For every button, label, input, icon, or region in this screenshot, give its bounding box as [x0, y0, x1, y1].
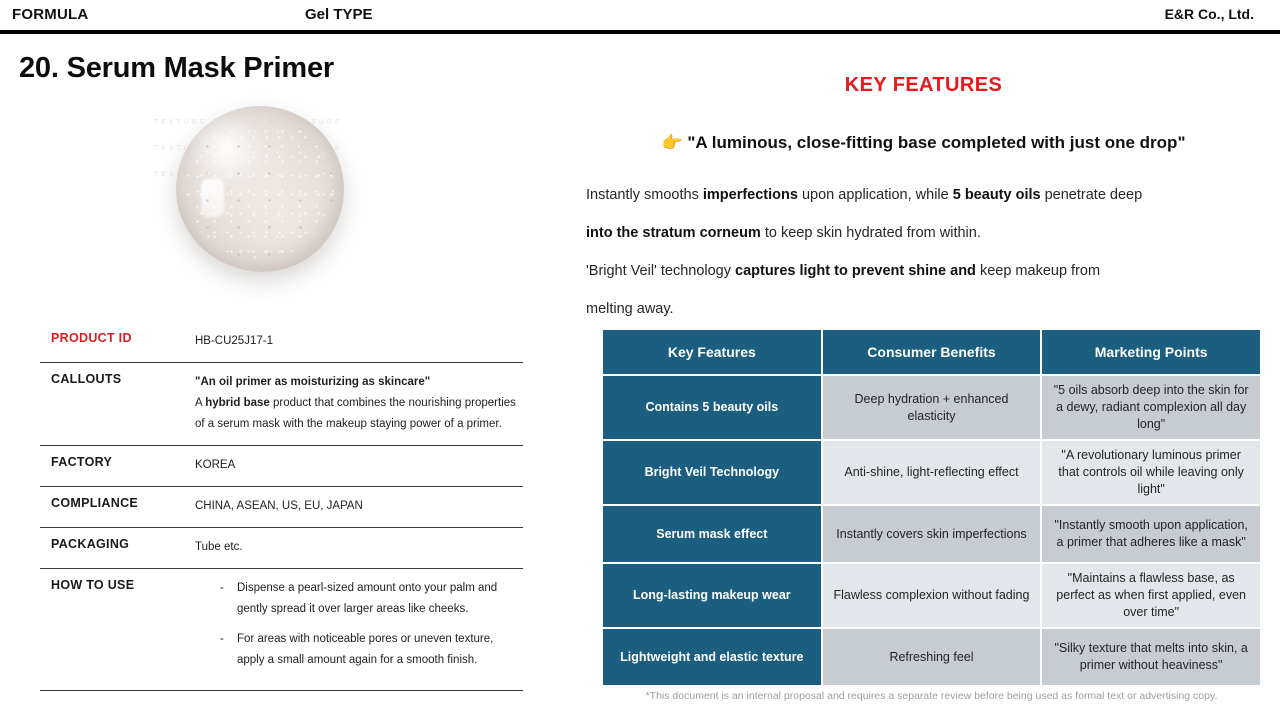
description-line-2: into the stratum corneum to keep skin hy… [586, 214, 1246, 252]
matrix-cell-feature: Bright Veil Technology [603, 441, 821, 504]
spec-value-factory: KOREA [195, 455, 523, 476]
page-title: 20. Serum Mask Primer [19, 52, 334, 85]
spec-label-how-to-use: HOW TO USE [40, 578, 195, 680]
key-features-title: KEY FEATURES [586, 74, 1261, 97]
desc-seg: keep makeup from [976, 263, 1100, 279]
how-to-use-text: Dispense a pearl-sized amount onto your … [237, 578, 523, 620]
matrix-cell-marketing: "Instantly smooth upon application, a pr… [1042, 506, 1260, 562]
spec-value-product-id: HB-CU25J17-1 [195, 331, 523, 352]
description-line-1: Instantly smooths imperfections upon app… [586, 176, 1246, 214]
key-features-tagline: 👉 "A luminous, close-fitting base comple… [586, 133, 1261, 153]
disclaimer-footnote: *This document is an internal proposal a… [601, 690, 1262, 702]
description-line-3: 'Bright Veil' technology captures light … [586, 252, 1246, 290]
callouts-headline: "An oil primer as moisturizing as skinca… [195, 372, 523, 393]
key-features-description: Instantly smooths imperfections upon app… [586, 176, 1246, 328]
header-divider [0, 30, 1280, 34]
gel-droplet-icon [176, 106, 344, 272]
spec-row-product-id: PRODUCT ID HB-CU25J17-1 [40, 322, 523, 362]
table-row: Bright Veil Technology Anti-shine, light… [603, 441, 1260, 504]
desc-seg-bold: captures light to prevent shine and [735, 263, 976, 279]
spec-row-compliance: COMPLIANCE CHINA, ASEAN, US, EU, JAPAN [40, 486, 523, 527]
callouts-body: A hybrid base product that combines the … [195, 393, 523, 435]
how-to-use-item: - For areas with noticeable pores or une… [195, 629, 523, 671]
desc-seg: penetrate deep [1041, 187, 1143, 203]
matrix-header: Key Features Consumer Benefits Marketing… [603, 330, 1260, 374]
product-spec-table: PRODUCT ID HB-CU25J17-1 CALLOUTS "An oil… [40, 322, 523, 691]
spec-label-factory: FACTORY [40, 455, 195, 476]
header-company-name: E&R Co., Ltd. [1165, 6, 1254, 22]
spec-row-packaging: PACKAGING Tube etc. [40, 527, 523, 568]
spec-value-callouts: "An oil primer as moisturizing as skinca… [195, 372, 523, 435]
spec-label-callouts: CALLOUTS [40, 372, 195, 435]
matrix-cell-benefit: Flawless complexion without fading [823, 564, 1041, 627]
spec-label-product-id: PRODUCT ID [40, 331, 195, 352]
desc-seg: melting away. [586, 301, 674, 317]
matrix-header-consumer-benefits: Consumer Benefits [823, 330, 1041, 374]
desc-seg-bold: into the stratum corneum [586, 225, 761, 241]
matrix-cell-marketing: "5 oils absorb deep into the skin for a … [1042, 376, 1260, 439]
table-row: Contains 5 beauty oils Deep hydration + … [603, 376, 1260, 439]
page-header: FORMULA Gel TYPE E&R Co., Ltd. [0, 0, 1280, 30]
matrix-cell-feature: Lightweight and elastic texture [603, 629, 821, 685]
header-type-label: Gel TYPE [305, 6, 373, 23]
list-dash: - [220, 629, 237, 671]
desc-seg: Instantly smooths [586, 187, 703, 203]
matrix-header-key-features: Key Features [603, 330, 821, 374]
desc-seg-bold: imperfections [703, 187, 798, 203]
pointing-hand-icon: 👉 [661, 133, 682, 152]
table-row: Lightweight and elastic texture Refreshi… [603, 629, 1260, 685]
matrix-cell-benefit: Instantly covers skin imperfections [823, 506, 1041, 562]
key-features-matrix-table: Key Features Consumer Benefits Marketing… [601, 328, 1262, 687]
tagline-text: "A luminous, close-fitting base complete… [687, 133, 1185, 152]
matrix-cell-marketing: "A revolutionary luminous primer that co… [1042, 441, 1260, 504]
spec-row-how-to-use: HOW TO USE - Dispense a pearl-sized amou… [40, 568, 523, 690]
table-row: Serum mask effect Instantly covers skin … [603, 506, 1260, 562]
list-dash: - [220, 578, 237, 620]
matrix-body: Contains 5 beauty oils Deep hydration + … [603, 376, 1260, 685]
matrix-cell-feature: Serum mask effect [603, 506, 821, 562]
how-to-use-text: For areas with noticeable pores or uneve… [237, 629, 523, 671]
matrix-cell-marketing: "Silky texture that melts into skin, a p… [1042, 629, 1260, 685]
desc-seg: upon application, while [798, 187, 953, 203]
spec-table-bottom-divider [40, 690, 523, 691]
desc-seg: to keep skin hydrated from within. [761, 225, 981, 241]
spec-label-compliance: COMPLIANCE [40, 496, 195, 517]
spec-value-compliance: CHINA, ASEAN, US, EU, JAPAN [195, 496, 523, 517]
callouts-body-bold: hybrid base [205, 397, 270, 409]
droplet-highlight [201, 179, 224, 217]
spec-row-factory: FACTORY KOREA [40, 445, 523, 486]
spec-value-how-to-use: - Dispense a pearl-sized amount onto you… [195, 578, 523, 680]
matrix-cell-feature: Long-lasting makeup wear [603, 564, 821, 627]
matrix-cell-marketing: "Maintains a flawless base, as perfect a… [1042, 564, 1260, 627]
matrix-cell-benefit: Anti-shine, light-reflecting effect [823, 441, 1041, 504]
how-to-use-item: - Dispense a pearl-sized amount onto you… [195, 578, 523, 620]
table-row: Long-lasting makeup wear Flawless comple… [603, 564, 1260, 627]
desc-seg-bold: 5 beauty oils [953, 187, 1041, 203]
matrix-cell-benefit: Refreshing feel [823, 629, 1041, 685]
spec-value-packaging: Tube etc. [195, 537, 523, 558]
spec-row-callouts: CALLOUTS "An oil primer as moisturizing … [40, 362, 523, 445]
product-image: TEXTURE TEXTURE TEXTURE TEXTURE TEXTURE … [176, 106, 344, 274]
spec-label-packaging: PACKAGING [40, 537, 195, 558]
description-line-4: melting away. [586, 290, 1246, 328]
matrix-header-marketing-points: Marketing Points [1042, 330, 1260, 374]
desc-seg: 'Bright Veil' technology [586, 263, 735, 279]
matrix-cell-feature: Contains 5 beauty oils [603, 376, 821, 439]
matrix-cell-benefit: Deep hydration + enhanced elasticity [823, 376, 1041, 439]
matrix-header-row: Key Features Consumer Benefits Marketing… [603, 330, 1260, 374]
callouts-body-lead: A [195, 397, 205, 409]
header-formula-label: FORMULA [12, 6, 88, 23]
